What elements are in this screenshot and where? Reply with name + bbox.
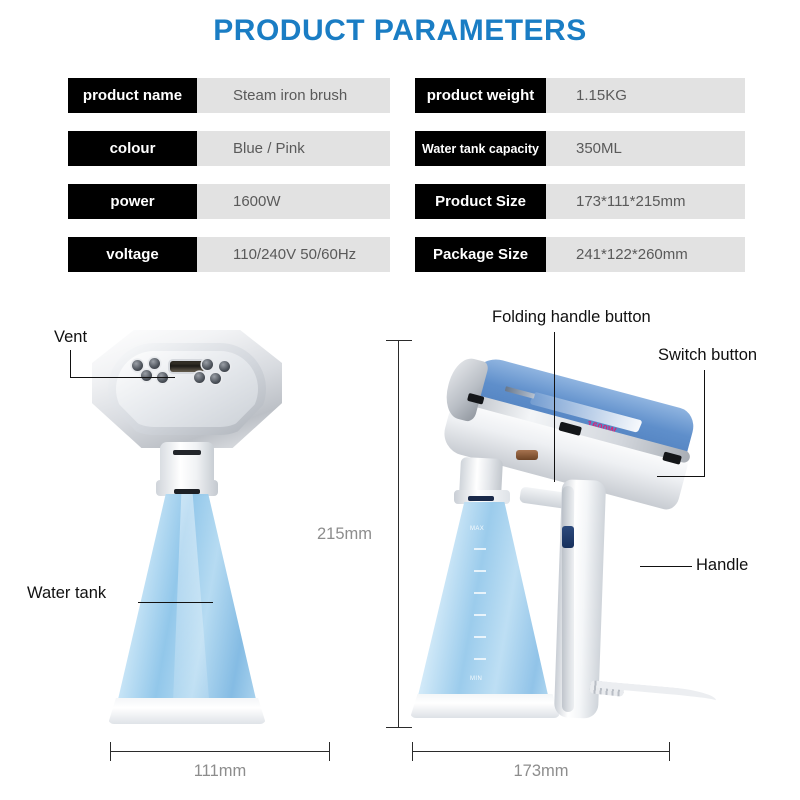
spec-value-power: 1600W [197,184,390,219]
tank-graduation [474,570,486,572]
steam-hole-icon [132,360,143,371]
water-tank-side [416,502,550,704]
tank-graduation [474,592,486,594]
callout-label-handle: Handle [696,556,748,575]
callout-leader-handle [640,566,692,567]
product-side-view-image: 1600W MAX MIN [410,330,710,750]
dimension-cap-front-left [110,742,111,761]
spec-value-water-tank-capacity: 350ML [546,131,745,166]
dimension-label-height: 215mm [317,525,372,544]
spec-key-voltage: voltage [68,237,197,272]
tank-min-mark: MIN [470,676,482,682]
dimension-line-side-width [412,751,670,752]
spec-key-power: power [68,184,197,219]
table-row: Package Size 241*122*260mm [415,237,745,272]
dimension-label-side-width: 173mm [513,762,568,781]
table-row: product weight 1.15KG [415,78,745,113]
spec-key-water-tank-capacity: Water tank capacity [415,131,546,166]
dimension-line-height [398,340,399,728]
collar-slot [468,496,494,501]
spec-value-product-size: 173*111*215mm [546,184,745,219]
handle-inner-edge [562,486,574,712]
callout-leader-vent-vertical [70,350,71,378]
callout-label-vent: Vent [54,328,87,347]
steam-hole-icon [194,372,205,383]
page-title: PRODUCT PARAMETERS [0,14,800,48]
table-row: power 1600W [68,184,390,219]
brand-print [505,386,535,399]
spec-table-left: product name Steam iron brush colour Blu… [68,78,390,290]
spec-key-product-weight: product weight [415,78,546,113]
table-row: Product Size 173*111*215mm [415,184,745,219]
water-tank-base [108,698,266,724]
table-row: Water tank capacity 350ML [415,131,745,166]
dimension-cap-front-right [329,742,330,761]
dimension-label-front-width: 111mm [194,762,247,781]
dimension-cap-height-bottom [386,727,412,728]
spec-value-product-name: Steam iron brush [197,78,390,113]
spec-table-right: product weight 1.15KG Water tank capacit… [415,78,745,290]
steam-hole-icon [219,361,230,372]
folding-handle-button-part[interactable] [516,450,538,460]
steam-hole-icon [141,370,152,381]
dimension-cap-side-left [412,742,413,761]
spec-value-voltage: 110/240V 50/60Hz [197,237,390,272]
neck-vent-slot [173,450,201,455]
table-row: colour Blue / Pink [68,131,390,166]
spec-value-package-size: 241*122*260mm [546,237,745,272]
tank-graduation [474,614,486,616]
steam-slot [170,361,204,372]
tank-graduation [474,636,486,638]
collar-slot [174,489,200,494]
callout-leader-switch-button-vertical [704,370,705,477]
dimension-cap-height-top [386,340,412,341]
spec-value-colour: Blue / Pink [197,131,390,166]
product-figure-area: 1600W MAX MIN Vent Water ta [0,290,800,800]
spec-key-product-name: product name [68,78,197,113]
callout-label-water-tank: Water tank [27,584,106,603]
switch-button-part[interactable] [562,526,574,548]
callout-leader-vent-horizontal [70,377,175,378]
spec-value-product-weight: 1.15KG [546,78,745,113]
callout-leader-folding-handle-button [554,332,555,482]
steam-hole-icon [149,358,160,369]
callout-label-switch-button: Switch button [658,346,757,365]
spec-key-product-size: Product Size [415,184,546,219]
dimension-cap-side-right [669,742,670,761]
tank-max-mark: MAX [470,526,484,532]
callout-label-folding-handle-button: Folding handle button [492,308,651,327]
steam-hole-icon [210,373,221,384]
table-row: product name Steam iron brush [68,78,390,113]
water-tank-base [410,694,560,718]
tank-graduation [474,548,486,550]
spec-key-colour: colour [68,131,197,166]
dimension-line-front-width [110,751,330,752]
power-cord [595,681,717,714]
table-row: voltage 110/240V 50/60Hz [68,237,390,272]
tank-graduation [474,658,486,660]
callout-leader-switch-button-horizontal [657,476,705,477]
callout-leader-water-tank [138,602,213,603]
spec-key-package-size: Package Size [415,237,546,272]
steam-hole-icon [202,359,213,370]
product-front-view-image [92,330,282,750]
